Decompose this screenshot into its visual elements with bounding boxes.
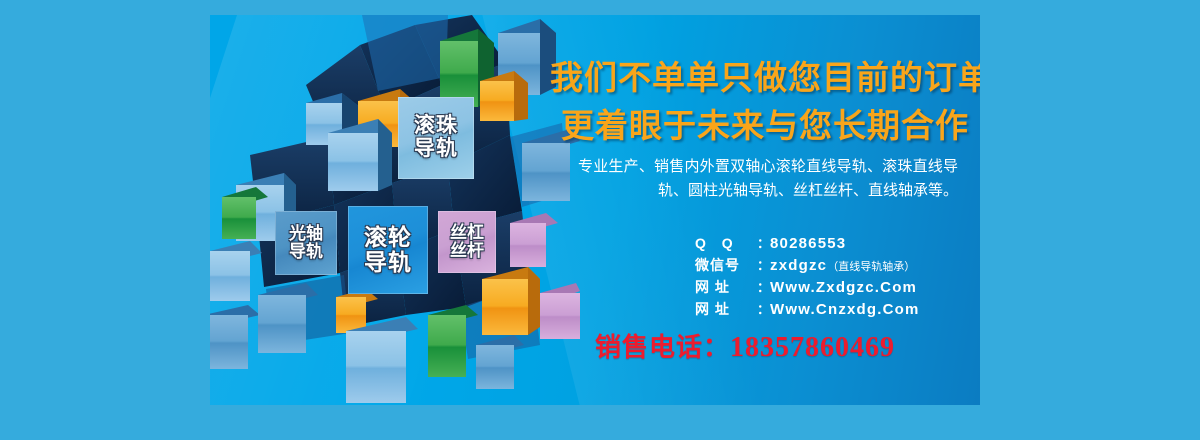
contact-row-wechat: 微信号 ： zxdgzc （直线导轨轴承） bbox=[695, 255, 980, 277]
product-label-gunlun-daogui: 滚轮 导轨 bbox=[348, 206, 428, 294]
cube-lightblue-lowerleft bbox=[210, 241, 262, 301]
contact-note-wechat: （直线导轨轴承） bbox=[827, 258, 915, 274]
product-label-gunzhu-daogui: 滚珠 导轨 bbox=[398, 97, 474, 179]
product-label-sigang-sigan: 丝杠 丝杆 bbox=[438, 211, 496, 273]
product-label-line1: 丝杠 bbox=[450, 224, 484, 242]
contact-label-website: 网 址 bbox=[695, 277, 757, 297]
banner-copy: 我们不单单只做您目前的订单 更着眼于未来与您长期合作 专业生产、销售内外置双轴心… bbox=[550, 15, 980, 405]
product-label-guangzhou-daogui: 光轴 导轨 bbox=[275, 211, 337, 275]
cube-blue-lowerleft bbox=[210, 305, 260, 369]
product-label-line1: 滚珠 bbox=[414, 115, 458, 138]
contact-label-website: 网 址 bbox=[695, 299, 757, 319]
product-label-line2: 丝杆 bbox=[450, 242, 484, 260]
contact-info-list: Q Q ： 80286553 微信号 ： zxdgzc （直线导轨轴承） 网 址… bbox=[695, 233, 980, 321]
product-label-line2: 导轨 bbox=[364, 250, 412, 275]
headline-line-2: 更着眼于未来与您长期合作 bbox=[550, 99, 980, 147]
company-description: 专业生产、销售内外置双轴心滚轮直线导轨、滚珠直线导轨、圆柱光轴导轨、丝杠丝杆、直… bbox=[578, 155, 958, 204]
promo-banner: 滚珠 导轨 光轴 导轨 滚轮 导轨 丝杠 丝杆 我们不单单只做您目前的订单 更着… bbox=[210, 15, 980, 405]
sales-phone-number[interactable]: 18357860469 bbox=[730, 332, 895, 364]
sales-phone-label: 销售电话： bbox=[595, 327, 730, 364]
product-label-line2: 导轨 bbox=[289, 243, 323, 261]
contact-separator: ： bbox=[757, 299, 770, 318]
contact-row-qq: Q Q ： 80286553 bbox=[695, 233, 980, 255]
product-label-line1: 光轴 bbox=[289, 225, 323, 243]
headline-line-1: 我们不单单只做您目前的订单 bbox=[550, 51, 980, 99]
contact-label-qq: Q Q bbox=[695, 235, 757, 251]
contact-value-wechat[interactable]: zxdgzc bbox=[770, 257, 827, 274]
contact-row-website-2: 网 址 ： Www.Cnzxdg.Com bbox=[695, 299, 980, 321]
contact-row-website-1: 网 址 ： Www.Zxdgzc.Com bbox=[695, 277, 980, 299]
contact-value-website-2[interactable]: Www.Cnzxdg.Com bbox=[770, 301, 920, 318]
product-label-line1: 滚轮 bbox=[364, 225, 412, 250]
cube-lightblue-bottom-large bbox=[346, 317, 418, 403]
sales-phone: 销售电话： 18357860469 bbox=[595, 327, 895, 364]
product-label-line2: 导轨 bbox=[414, 138, 458, 161]
banner-stage: 滚珠 导轨 光轴 导轨 滚轮 导轨 丝杠 丝杆 我们不单单只做您目前的订单 更着… bbox=[0, 0, 1200, 440]
contact-value-qq[interactable]: 80286553 bbox=[770, 235, 846, 252]
contact-separator: ： bbox=[757, 233, 770, 252]
contact-separator: ： bbox=[757, 255, 770, 274]
contact-value-website-1[interactable]: Www.Zxdgzc.Com bbox=[770, 279, 917, 296]
cube-orange-bottomright bbox=[482, 267, 540, 335]
contact-separator: ： bbox=[757, 277, 770, 296]
contact-label-wechat: 微信号 bbox=[695, 255, 757, 275]
